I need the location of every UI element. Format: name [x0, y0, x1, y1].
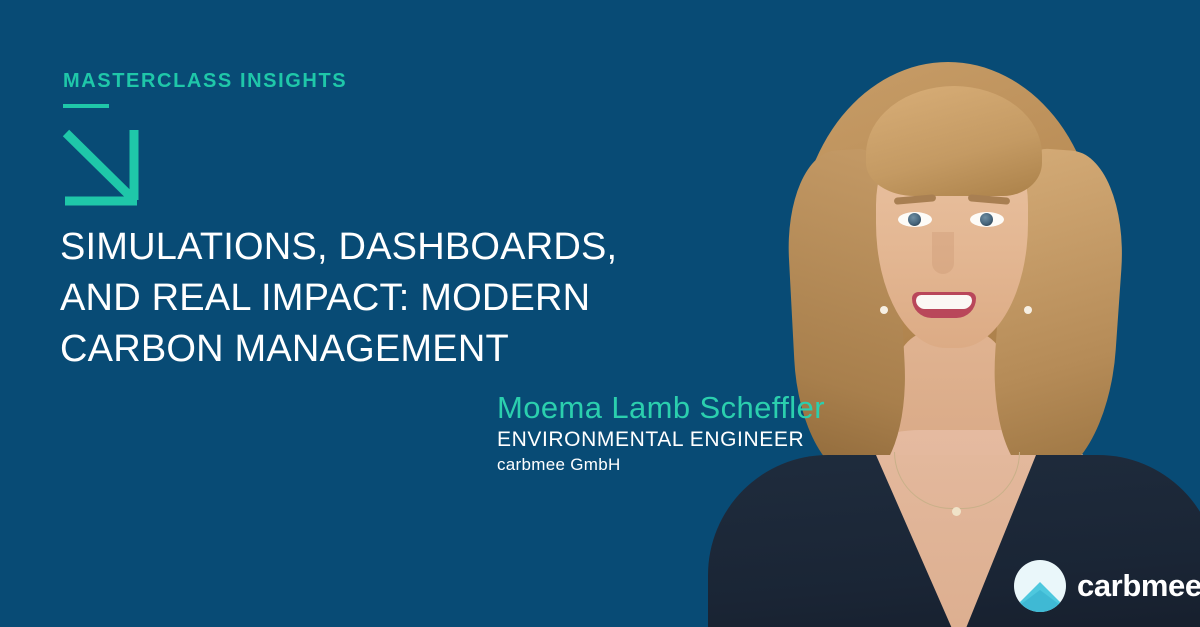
kicker-label: MASTERCLASS INSIGHTS: [63, 70, 347, 93]
portrait-eye-left: [898, 212, 932, 227]
headline-line-1: SIMULATIONS, DASHBOARDS,: [60, 222, 700, 273]
kicker-underline: [63, 104, 109, 108]
headline-line-2: AND REAL IMPACT: MODERN: [60, 273, 700, 324]
speaker-block: Moema Lamb Scheffler ENVIRONMENTAL ENGIN…: [497, 390, 825, 477]
carbmee-wordmark: carbmee: [1077, 568, 1200, 604]
carbmee-circle-mountain-icon: [1014, 560, 1066, 612]
speaker-portrait: [680, 0, 1200, 627]
portrait-teeth: [916, 295, 972, 309]
speaker-name: Moema Lamb Scheffler: [497, 390, 825, 426]
masterclass-insights-card: MASTERCLASS INSIGHTS SIMULATIONS, DASHBO…: [0, 0, 1200, 627]
arrow-down-right-icon: [60, 125, 146, 207]
headline-line-3: CARBON MANAGEMENT: [60, 324, 700, 375]
portrait-earring-left: [880, 306, 888, 314]
carbmee-logo: carbmee: [1014, 560, 1200, 612]
portrait-earring-right: [1024, 306, 1032, 314]
page-title: SIMULATIONS, DASHBOARDS, AND REAL IMPACT…: [60, 222, 700, 375]
portrait-mouth: [912, 292, 976, 318]
portrait-iris-right: [980, 213, 993, 226]
portrait-nose: [932, 232, 954, 274]
speaker-company: carbmee GmbH: [497, 453, 825, 477]
portrait-necklace-pendant: [952, 507, 961, 516]
portrait-eye-right: [970, 212, 1004, 227]
portrait-iris-left: [908, 213, 921, 226]
speaker-role: ENVIRONMENTAL ENGINEER: [497, 426, 825, 453]
